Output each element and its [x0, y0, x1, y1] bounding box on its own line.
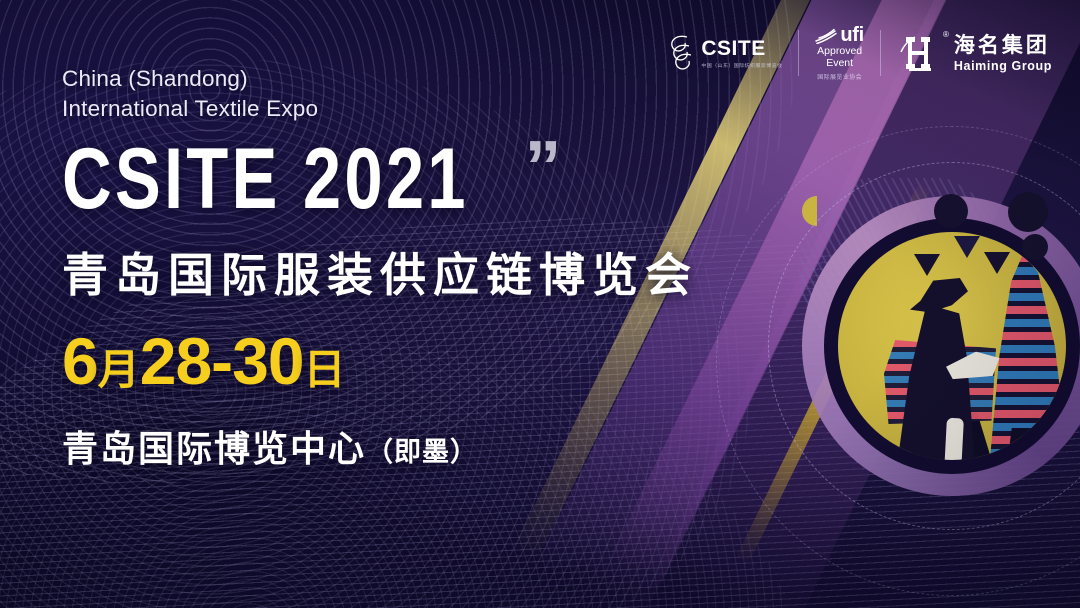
date-month-unit: 月: [98, 346, 140, 393]
expo-english-line2: International Textile Expo: [62, 94, 962, 124]
ufi-wordmark-row: ufi: [815, 26, 864, 44]
brand-title: CSITE 2021: [62, 139, 469, 221]
date-month-number: 6: [62, 324, 98, 398]
haiming-english-name: Haiming Group: [954, 59, 1052, 73]
event-date: 6月28-30日: [62, 328, 962, 394]
ufi-swoosh-icon: [815, 28, 837, 44]
date-day-unit: 日: [304, 346, 346, 393]
haiming-chinese-name: 海名集团: [954, 34, 1052, 57]
expo-english-line1: China (Shandong): [62, 64, 962, 94]
quotation-mark-icon: ”: [524, 137, 559, 196]
brand-title-row: CSITE 2021 ”: [62, 139, 962, 221]
registered-mark: ®: [943, 30, 949, 39]
venue-name: 青岛国际博览中心: [62, 428, 366, 469]
venue-district: （即墨）: [366, 437, 478, 467]
haiming-text-group: 海名集团 Haiming Group: [954, 34, 1052, 73]
ufi-word: ufi: [840, 26, 864, 44]
expo-english-name: China (Shandong) International Textile E…: [62, 64, 962, 125]
expo-chinese-title: 青岛国际服装供应链博览会: [62, 250, 962, 302]
event-poster: CSITE 中国（山东）国际纺织服装博览会 ufi Approved Event…: [0, 0, 1080, 608]
poster-content: China (Shandong) International Textile E…: [62, 64, 962, 472]
csite-name: CSITE: [701, 38, 782, 59]
event-venue: 青岛国际博览中心（即墨）: [62, 420, 962, 472]
date-day-range: 28-30: [140, 324, 304, 398]
